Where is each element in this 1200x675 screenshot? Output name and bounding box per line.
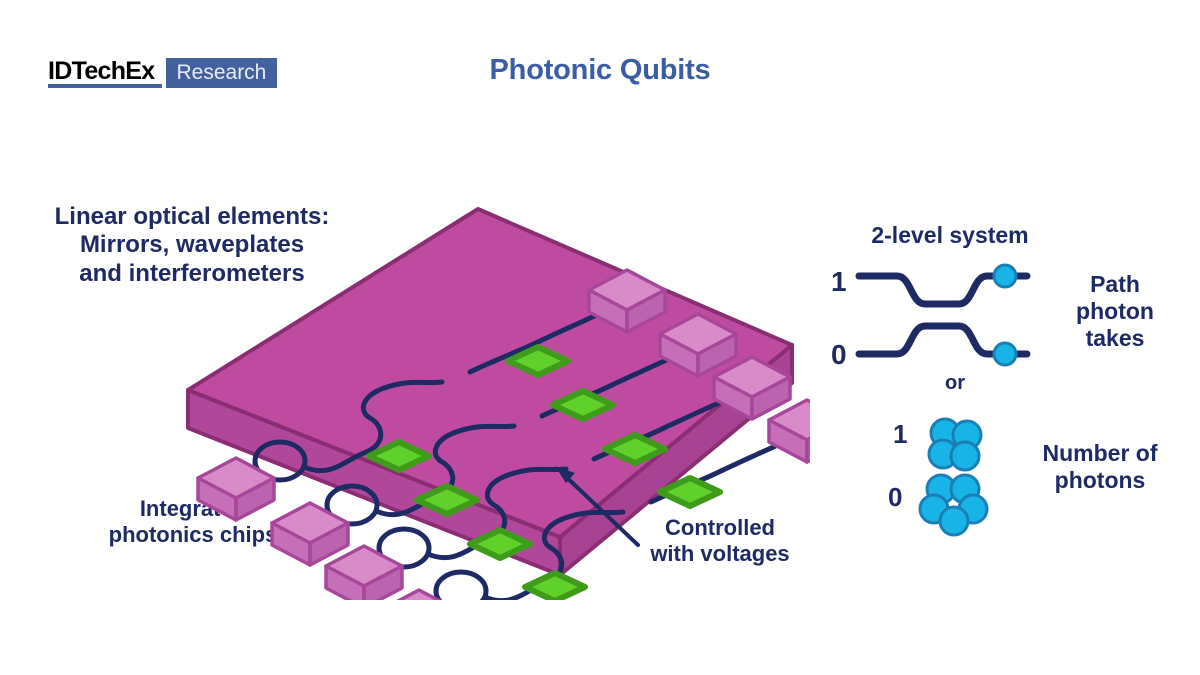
photon-marker-upper — [994, 265, 1016, 287]
photon-marker-lower — [994, 343, 1016, 365]
photon-number-state-label-1: 1 — [893, 421, 907, 447]
path-state-label-1: 1 — [831, 268, 847, 296]
two-level-system-heading: 2-level system — [820, 222, 1080, 249]
page-title: Photonic Qubits — [0, 54, 1200, 87]
pink-coupler-cube — [198, 458, 274, 520]
photon-circle — [940, 507, 968, 535]
path-encoding-diagram — [855, 258, 1055, 368]
photon-number-encoding-label: Number of photons — [1005, 440, 1195, 494]
encoding-separator-or: or — [900, 372, 1010, 396]
photon-cluster-four — [925, 416, 985, 472]
path-encoding-label: Path photon takes — [1040, 271, 1190, 352]
photon-number-state-label-0: 0 — [888, 484, 902, 510]
pink-coupler-cube — [326, 546, 402, 600]
pink-coupler-cube — [272, 503, 348, 565]
path-state-label-0: 0 — [831, 341, 847, 369]
pink-coupler-cube — [769, 400, 810, 462]
integrated-photonics-chip-illustration — [170, 200, 810, 600]
photon-circle — [951, 442, 979, 470]
green-diamond-modulator — [525, 573, 585, 600]
photon-cluster-six — [918, 471, 990, 539]
